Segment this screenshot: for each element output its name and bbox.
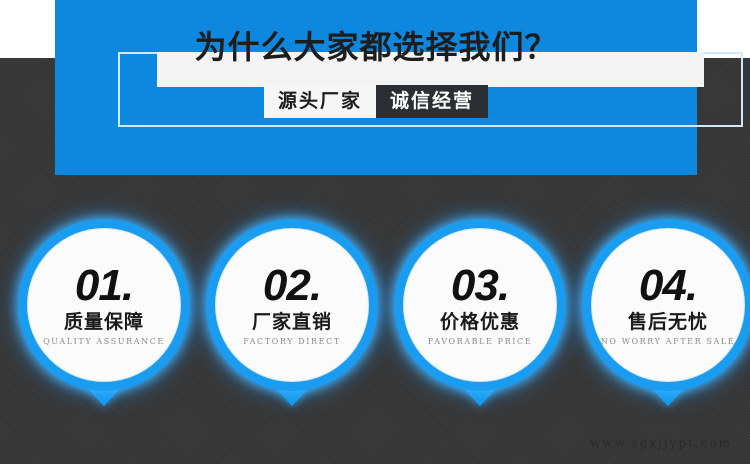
- circle-ring-outer: 04. 售后无忧 NO WORRY AFTER SALE: [582, 219, 750, 391]
- card-title-cn: 厂家直销: [252, 312, 332, 334]
- card-title-en: FAVORABLE PRICE: [428, 337, 532, 346]
- circle-ring-inner: 01. 质量保障 QUALITY ASSURANCE: [27, 228, 181, 382]
- feature-card-01[interactable]: 01. 质量保障 QUALITY ASSURANCE: [18, 219, 190, 414]
- promo-banner: 为什么大家都选择我们？ 源头厂家 诚信经营 01. 质量保障 QUALITY A…: [0, 0, 750, 464]
- card-number: 01.: [75, 264, 133, 308]
- feature-card-row: 01. 质量保障 QUALITY ASSURANCE 02. 厂家直销 FACT…: [0, 219, 750, 414]
- circle-ring-outer: 01. 质量保障 QUALITY ASSURANCE: [18, 219, 190, 391]
- card-title-en: FACTORY DIRECT: [243, 337, 341, 346]
- feature-card-03[interactable]: 03. 价格优惠 FAVORABLE PRICE: [394, 219, 566, 414]
- card-title-cn: 售后无忧: [628, 312, 708, 334]
- circle-ring-outer: 03. 价格优惠 FAVORABLE PRICE: [394, 219, 566, 391]
- circle-ring-inner: 04. 售后无忧 NO WORRY AFTER SALE: [591, 228, 745, 382]
- header-badge-row: 源头厂家 诚信经营: [55, 85, 697, 118]
- site-watermark: www.zgxjjypt.com: [590, 436, 732, 450]
- feature-card-04[interactable]: 04. 售后无忧 NO WORRY AFTER SALE: [582, 219, 750, 414]
- card-title-en: QUALITY ASSURANCE: [43, 337, 165, 346]
- circle-ring-inner: 02. 厂家直销 FACTORY DIRECT: [215, 228, 369, 382]
- page-title: 为什么大家都选择我们？: [55, 28, 697, 66]
- card-title-cn: 价格优惠: [440, 312, 520, 334]
- card-title-en: NO WORRY AFTER SALE: [601, 337, 735, 346]
- card-number: 02.: [263, 264, 321, 308]
- circle-ring-inner: 03. 价格优惠 FAVORABLE PRICE: [403, 228, 557, 382]
- badge-honest-business[interactable]: 诚信经营: [376, 85, 488, 118]
- badge-source-factory[interactable]: 源头厂家: [264, 85, 376, 118]
- circle-ring-outer: 02. 厂家直销 FACTORY DIRECT: [206, 219, 378, 391]
- card-title-cn: 质量保障: [64, 312, 144, 334]
- card-number: 03.: [451, 264, 509, 308]
- feature-card-02[interactable]: 02. 厂家直销 FACTORY DIRECT: [206, 219, 378, 414]
- card-number: 04.: [639, 264, 697, 308]
